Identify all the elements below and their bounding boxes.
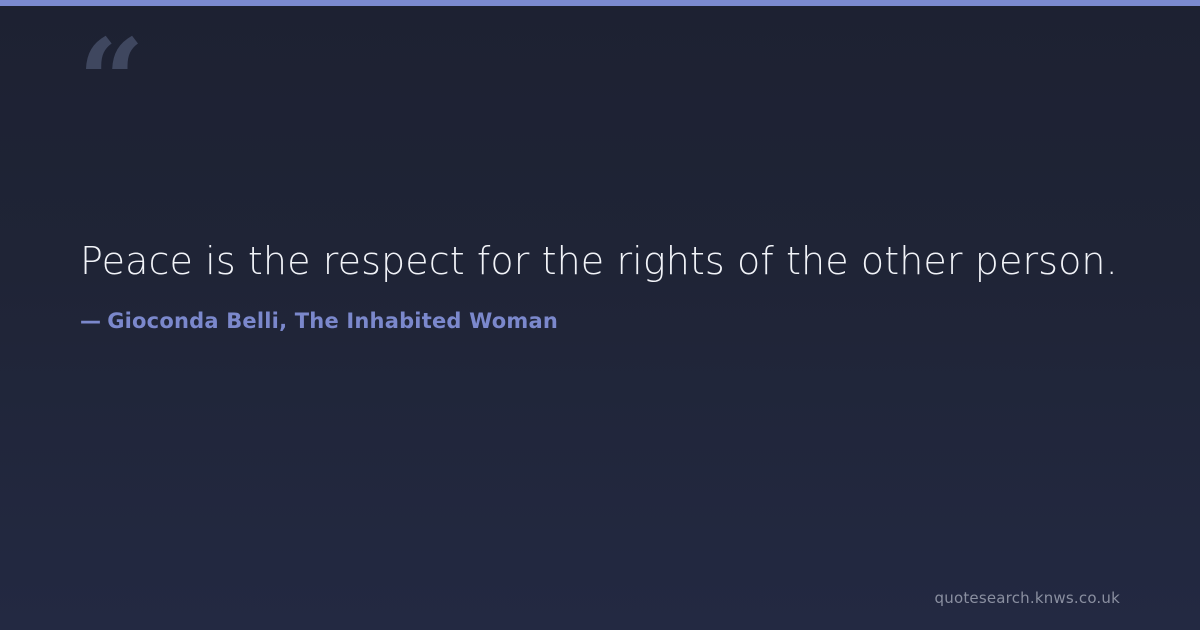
top-accent-bar bbox=[0, 0, 1200, 6]
quote-text: Peace is the respect for the rights of t… bbox=[80, 236, 1120, 286]
attribution-dash: — bbox=[80, 309, 101, 333]
quotation-mark-icon: “ bbox=[78, 24, 143, 140]
quote-card: “ Peace is the respect for the rights of… bbox=[0, 0, 1200, 630]
attribution-source: The Inhabited Woman bbox=[295, 309, 558, 333]
attribution-separator: , bbox=[279, 309, 295, 333]
attribution-author: Gioconda Belli bbox=[107, 309, 279, 333]
footer-site-url: quotesearch.knws.co.uk bbox=[935, 589, 1120, 607]
quote-attribution: —Gioconda Belli, The Inhabited Woman bbox=[80, 308, 1120, 335]
quote-content: Peace is the respect for the rights of t… bbox=[80, 236, 1120, 335]
